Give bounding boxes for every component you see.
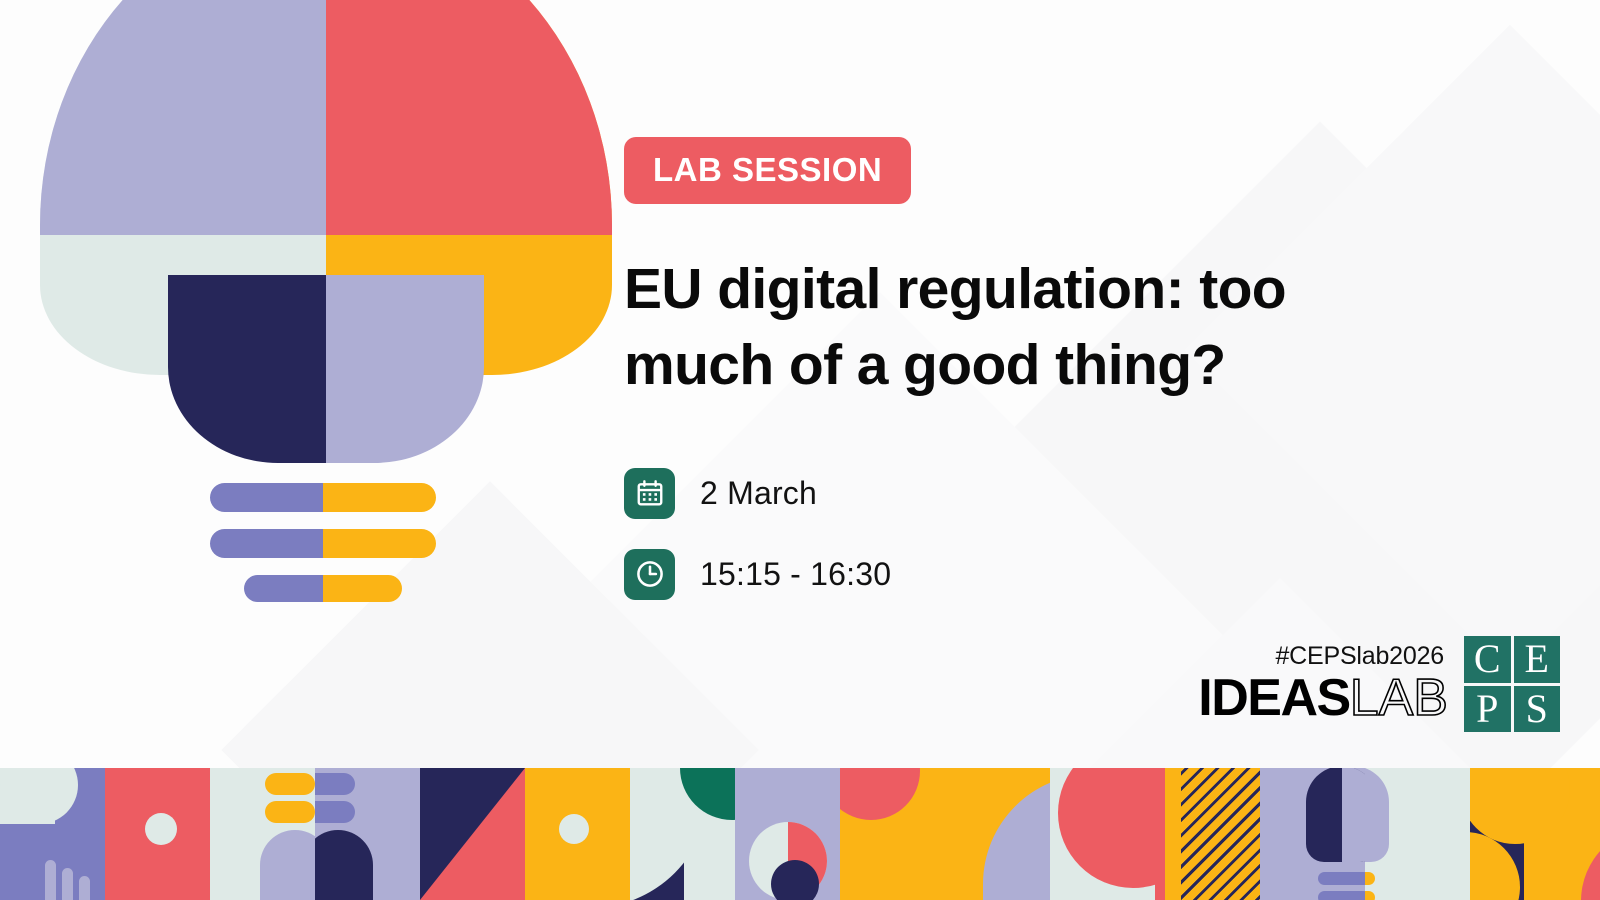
pattern-tile [1155, 768, 1260, 900]
pattern-tile [0, 768, 105, 900]
bulb-base-right [326, 275, 484, 463]
bulb-base-left [168, 275, 326, 463]
pattern-tile [840, 768, 945, 900]
ideaslab-light-text: LAB [1350, 669, 1448, 727]
pattern-tile [1365, 768, 1470, 900]
calendar-icon [624, 468, 675, 519]
ceps-letter-c: C [1464, 636, 1511, 683]
bulb-cap-quarter-left [40, 0, 326, 235]
ceps-letter-p: P [1464, 686, 1511, 733]
ideaslab-bold-text: IDEAS [1198, 669, 1349, 727]
ceps-letter-e: E [1514, 636, 1561, 683]
event-title: EU digital regulation: too much of a goo… [624, 252, 1424, 404]
pattern-tile [420, 768, 525, 900]
pattern-tile [315, 768, 420, 900]
pattern-tile [630, 768, 735, 900]
bulb-base [168, 275, 484, 463]
event-time-row: 15:15 - 16:30 [624, 549, 1484, 600]
ceps-logo: C E P S [1464, 636, 1560, 732]
branding-block: #CEPSlab2026 IDEASLAB C E P S [1160, 636, 1560, 740]
event-hashtag: #CEPSlab2026 [1275, 642, 1444, 671]
pattern-tile [1050, 768, 1155, 900]
event-date-label: 2 March [700, 475, 817, 512]
session-type-badge: LAB SESSION [624, 137, 911, 204]
event-banner: LAB SESSION EU digital regulation: too m… [0, 0, 1600, 900]
event-meta: 2 March 15:15 - 16:30 [624, 468, 1484, 600]
pattern-tile [1575, 768, 1600, 900]
light-ray-bar [244, 575, 402, 602]
pattern-tile [1260, 768, 1365, 900]
pattern-tile [945, 768, 1050, 900]
ceps-letter-s: S [1514, 686, 1561, 733]
pattern-tile [1470, 768, 1575, 900]
bulb-light-rays [200, 483, 450, 602]
clock-icon [624, 549, 675, 600]
pattern-tile [105, 768, 210, 900]
bulb-cap-quarter-right [326, 0, 612, 235]
ideaslab-wordmark: IDEASLAB [1198, 672, 1448, 724]
light-ray-bar [210, 483, 436, 512]
pattern-tile [525, 768, 630, 900]
decorative-pattern-strip [0, 768, 1600, 900]
pattern-tile [735, 768, 840, 900]
event-time-label: 15:15 - 16:30 [700, 556, 891, 593]
lightbulb-illustration [0, 0, 620, 645]
bulb-cap [40, 0, 612, 235]
pattern-tile [210, 768, 315, 900]
event-date-row: 2 March [624, 468, 1484, 519]
light-ray-bar [210, 529, 436, 558]
